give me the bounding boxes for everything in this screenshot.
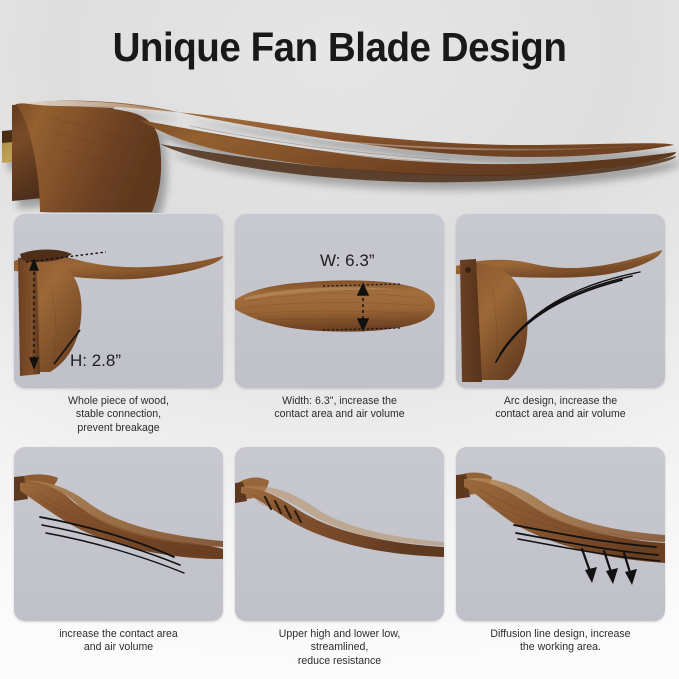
caption-line: contact area and air volume — [239, 408, 440, 421]
panel-image-arc-design — [456, 214, 665, 388]
caption-line: Diffusion line design, increase — [460, 628, 661, 641]
panel-image-diffusion-line — [456, 447, 665, 621]
panel-image-width: W: 6.3” — [235, 214, 444, 388]
dimension-label-height: H: 2.8” — [70, 351, 121, 370]
panel-image-streamlined — [235, 447, 444, 621]
caption-line: Arc design, increase the — [460, 395, 661, 408]
feature-panel-streamlined: Upper high and lower low, streamlined, r… — [235, 447, 444, 668]
panel-caption-width: Width: 6.3", increase the contact area a… — [239, 395, 440, 422]
caption-line: prevent breakage — [18, 422, 219, 435]
caption-line: and air volume — [18, 641, 219, 654]
feature-panel-contact-area: increase the contact area and air volume — [14, 447, 223, 655]
infographic-page: Unique Fan Blade Design — [0, 0, 679, 679]
panel-caption-arc-design: Arc design, increase the contact area an… — [460, 395, 661, 422]
feature-panel-arc-design: Arc design, increase the contact area an… — [456, 214, 665, 422]
panel-caption-whole-piece: Whole piece of wood, stable connection, … — [18, 395, 219, 435]
caption-line: streamlined, — [239, 641, 440, 654]
page-title: Unique Fan Blade Design — [20, 24, 658, 71]
panel-caption-diffusion-line: Diffusion line design, increase the work… — [460, 628, 661, 655]
caption-line: increase the contact area — [18, 628, 219, 641]
panel-image-contact-area — [14, 447, 223, 621]
feature-panel-width: W: 6.3” Width: 6.3", increase the contac… — [235, 214, 444, 422]
panel-caption-streamlined: Upper high and lower low, streamlined, r… — [239, 628, 440, 668]
panel-image-whole-piece: H: 2.8” — [14, 214, 223, 388]
fan-blade-hero-photo — [0, 88, 679, 213]
caption-line: Width: 6.3", increase the — [239, 395, 440, 408]
caption-line: contact area and air volume — [460, 408, 661, 421]
panel-caption-contact-area: increase the contact area and air volume — [18, 628, 219, 655]
feature-panel-diffusion-line: Diffusion line design, increase the work… — [456, 447, 665, 655]
feature-panel-whole-piece: H: 2.8” Whole piece of wood, stable conn… — [14, 214, 223, 435]
caption-line: the working area. — [460, 641, 661, 654]
caption-line: Whole piece of wood, — [18, 395, 219, 408]
caption-line: reduce resistance — [239, 655, 440, 668]
caption-line: stable connection, — [18, 408, 219, 421]
caption-line: Upper high and lower low, — [239, 628, 440, 641]
dimension-label-width: W: 6.3” — [320, 251, 375, 270]
